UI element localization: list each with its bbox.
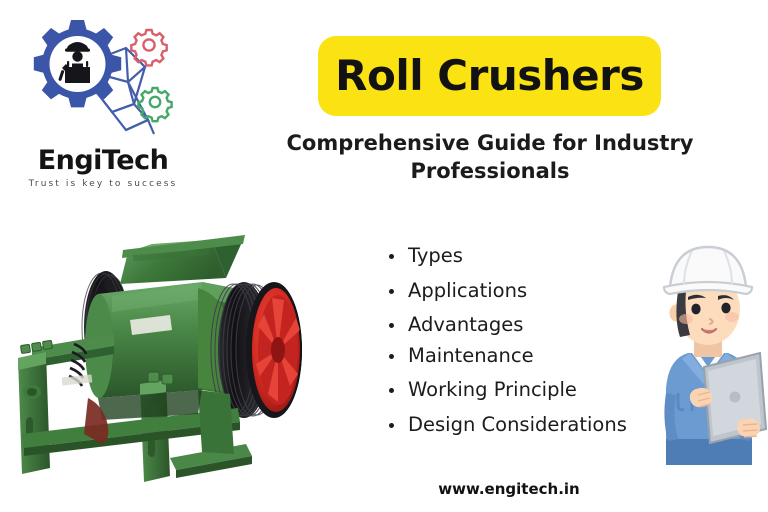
- gear-with-engineer-icon: [8, 12, 198, 140]
- list-item: Working Principle: [386, 380, 686, 400]
- list-item-label: Advantages: [408, 313, 523, 336]
- list-item-label: Working Principle: [408, 378, 577, 401]
- roll-crusher-machine-photo: [2, 222, 342, 497]
- engineer-with-tablet-illustration: [648, 243, 768, 465]
- list-item: Applications: [386, 281, 686, 301]
- logo-wordmark: EngiTech: [8, 147, 198, 174]
- list-item-label: Maintenance: [408, 344, 534, 367]
- list-item-label: Design Considerations: [408, 413, 627, 436]
- list-item: Design Considerations: [386, 415, 686, 435]
- title-banner: Roll Crushers: [318, 36, 661, 116]
- list-item: Types: [386, 246, 686, 266]
- brand-logo: EngiTech Trust is key to success: [8, 12, 198, 192]
- list-item: Maintenance: [386, 346, 686, 366]
- topics-list: Types Applications Advantages Maintenanc…: [386, 246, 686, 449]
- page-title: Roll Crushers: [335, 55, 644, 97]
- page-subtitle: Comprehensive Guide for Industry Profess…: [250, 130, 730, 185]
- footer-website-url: www.engitech.in: [384, 482, 634, 497]
- list-item-label: Applications: [408, 279, 527, 302]
- list-item: Advantages: [386, 315, 686, 335]
- poster-canvas: EngiTech Trust is key to success Roll Cr…: [0, 0, 768, 512]
- logo-tagline: Trust is key to success: [8, 180, 198, 189]
- list-item-label: Types: [408, 244, 463, 267]
